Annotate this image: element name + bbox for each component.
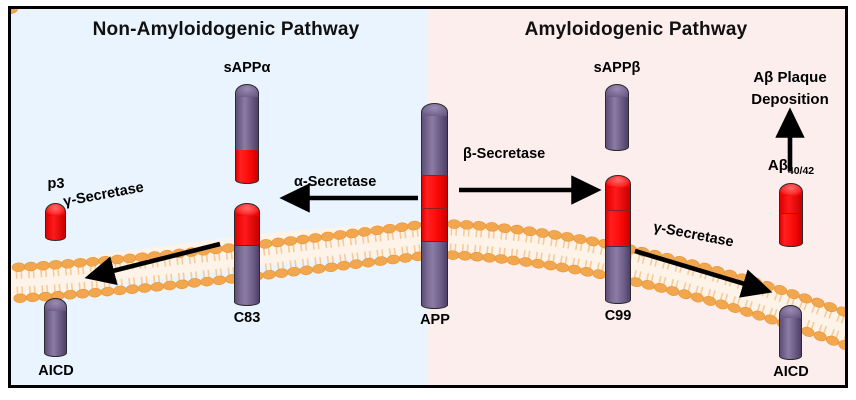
label-plaque-line1: Aβ Plaque <box>728 69 848 86</box>
label-abeta: Aβ40/42 <box>747 157 835 177</box>
protein-aicd-right <box>779 305 802 360</box>
protein-abeta <box>779 183 803 247</box>
protein-sappa <box>235 84 259 184</box>
c99-red-upper-segment <box>605 175 631 210</box>
label-beta-secretase: β-Secretase <box>463 146 545 162</box>
app-purple-bottom-segment <box>421 241 448 309</box>
pathway-figure: Non-Amyloidogenic Pathway Amyloidogenic … <box>0 0 856 400</box>
sappa-red-segment <box>235 150 259 184</box>
label-app: APP <box>403 312 467 328</box>
aicd-right-purple-segment <box>779 305 802 360</box>
abeta-red-lower-segment <box>779 213 803 247</box>
protein-c83 <box>234 203 260 306</box>
protein-p3 <box>45 203 66 241</box>
abeta-red-upper-segment <box>779 183 803 213</box>
sappa-purple-segment <box>235 84 259 150</box>
c83-red-segment <box>234 203 260 245</box>
pathway-title-amyloidogenic: Amyloidogenic Pathway <box>436 19 836 41</box>
protein-aicd-left <box>44 298 67 357</box>
protein-sappb <box>605 84 629 151</box>
label-alpha-secretase: α-Secretase <box>294 174 376 190</box>
label-p3: p3 <box>25 176 87 192</box>
c99-red-lower-segment <box>605 210 631 246</box>
label-abeta-subscript: 40/42 <box>788 165 814 177</box>
label-aicd-left: AICD <box>21 363 91 379</box>
label-abeta-main: Aβ <box>768 157 788 174</box>
label-plaque-line2: Deposition <box>728 91 848 108</box>
p3-red-segment <box>45 203 66 241</box>
label-sappb: sAPPβ <box>577 60 657 76</box>
c83-purple-segment <box>234 245 260 306</box>
aicd-left-purple-segment <box>44 298 67 357</box>
app-purple-top-segment <box>421 103 448 175</box>
c99-purple-segment <box>605 246 631 304</box>
figure-frame: Non-Amyloidogenic Pathway Amyloidogenic … <box>8 6 848 388</box>
app-red-upper-segment <box>421 175 448 208</box>
app-red-lower-segment <box>421 208 448 241</box>
label-c99: C99 <box>587 308 649 324</box>
sappb-purple-segment <box>605 84 629 151</box>
protein-c99 <box>605 175 631 304</box>
label-c83: C83 <box>216 310 278 326</box>
protein-app <box>421 103 448 309</box>
label-aicd-right: AICD <box>756 364 826 380</box>
pathway-title-non-amyloidogenic: Non-Amyloidogenic Pathway <box>31 19 421 41</box>
label-sappa: sAPPα <box>207 60 287 76</box>
